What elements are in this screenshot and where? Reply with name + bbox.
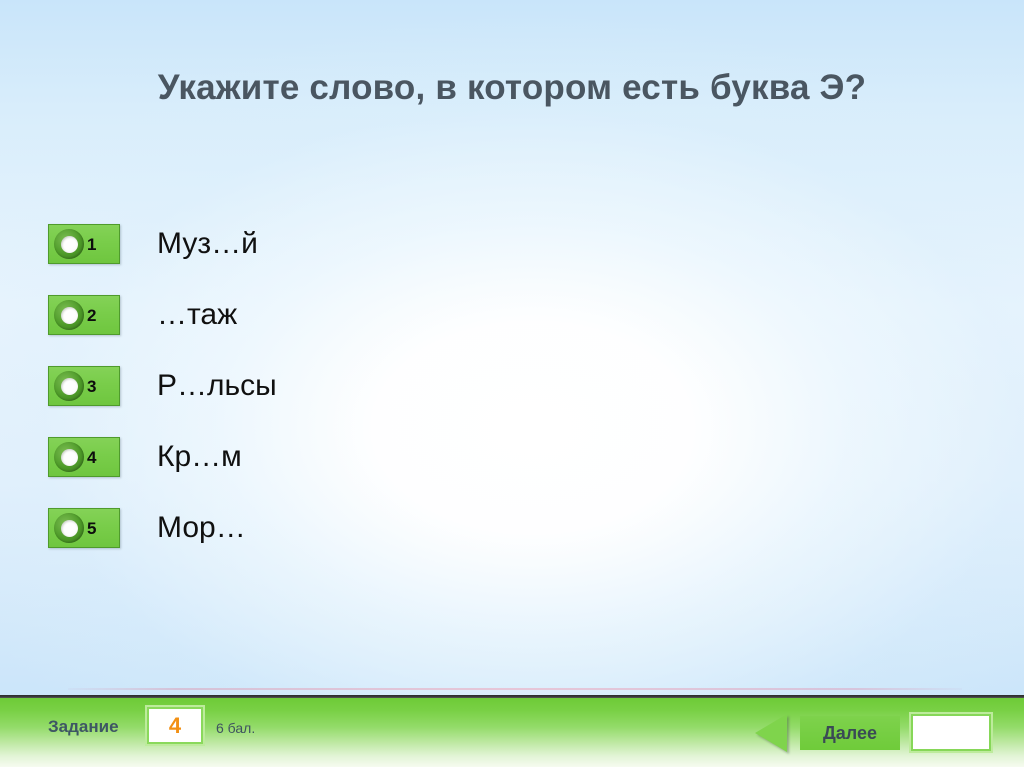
option-button-1[interactable]: 1 — [48, 224, 120, 264]
list-item[interactable]: 1 Муз…й — [48, 224, 748, 295]
option-label: …таж — [157, 295, 237, 335]
list-item[interactable]: 3 Р…льсы — [48, 366, 748, 437]
next-button[interactable]: Далее — [800, 716, 900, 750]
result-box[interactable] — [911, 714, 991, 751]
option-button-2[interactable]: 2 — [48, 295, 120, 335]
task-number: 4 — [169, 715, 181, 737]
option-button-5[interactable]: 5 — [48, 508, 120, 548]
option-number: 4 — [87, 449, 96, 466]
list-item[interactable]: 4 Кр…м — [48, 437, 748, 508]
next-button-label: Далее — [823, 724, 877, 742]
option-number: 2 — [87, 307, 96, 324]
option-label: Кр…м — [157, 437, 242, 477]
task-number-box: 4 — [147, 707, 203, 744]
answer-options-list: 1 Муз…й 2 …таж 3 Р…льсы 4 Кр…м — [48, 224, 748, 579]
slide-canvas: Укажите слово, в котором есть буква Э? 1… — [0, 0, 1024, 767]
list-item[interactable]: 2 …таж — [48, 295, 748, 366]
list-item[interactable]: 5 Мор… — [48, 508, 748, 579]
option-button-4[interactable]: 4 — [48, 437, 120, 477]
radio-unselected-icon[interactable] — [54, 513, 84, 543]
page-title: Укажите слово, в котором есть буква Э? — [0, 68, 1024, 108]
triangle-left-icon[interactable] — [755, 714, 787, 752]
option-button-3[interactable]: 3 — [48, 366, 120, 406]
option-label: Муз…й — [157, 224, 258, 264]
option-number: 3 — [87, 378, 96, 395]
option-label: Р…льсы — [157, 366, 277, 406]
task-label: Задание — [48, 717, 119, 737]
option-number: 1 — [87, 236, 96, 253]
radio-unselected-icon[interactable] — [54, 229, 84, 259]
radio-unselected-icon[interactable] — [54, 442, 84, 472]
option-number: 5 — [87, 520, 96, 537]
points-label: 6 бал. — [216, 720, 255, 736]
radio-unselected-icon[interactable] — [54, 371, 84, 401]
option-label: Мор… — [157, 508, 246, 548]
radio-unselected-icon[interactable] — [54, 300, 84, 330]
content-divider — [68, 688, 962, 690]
